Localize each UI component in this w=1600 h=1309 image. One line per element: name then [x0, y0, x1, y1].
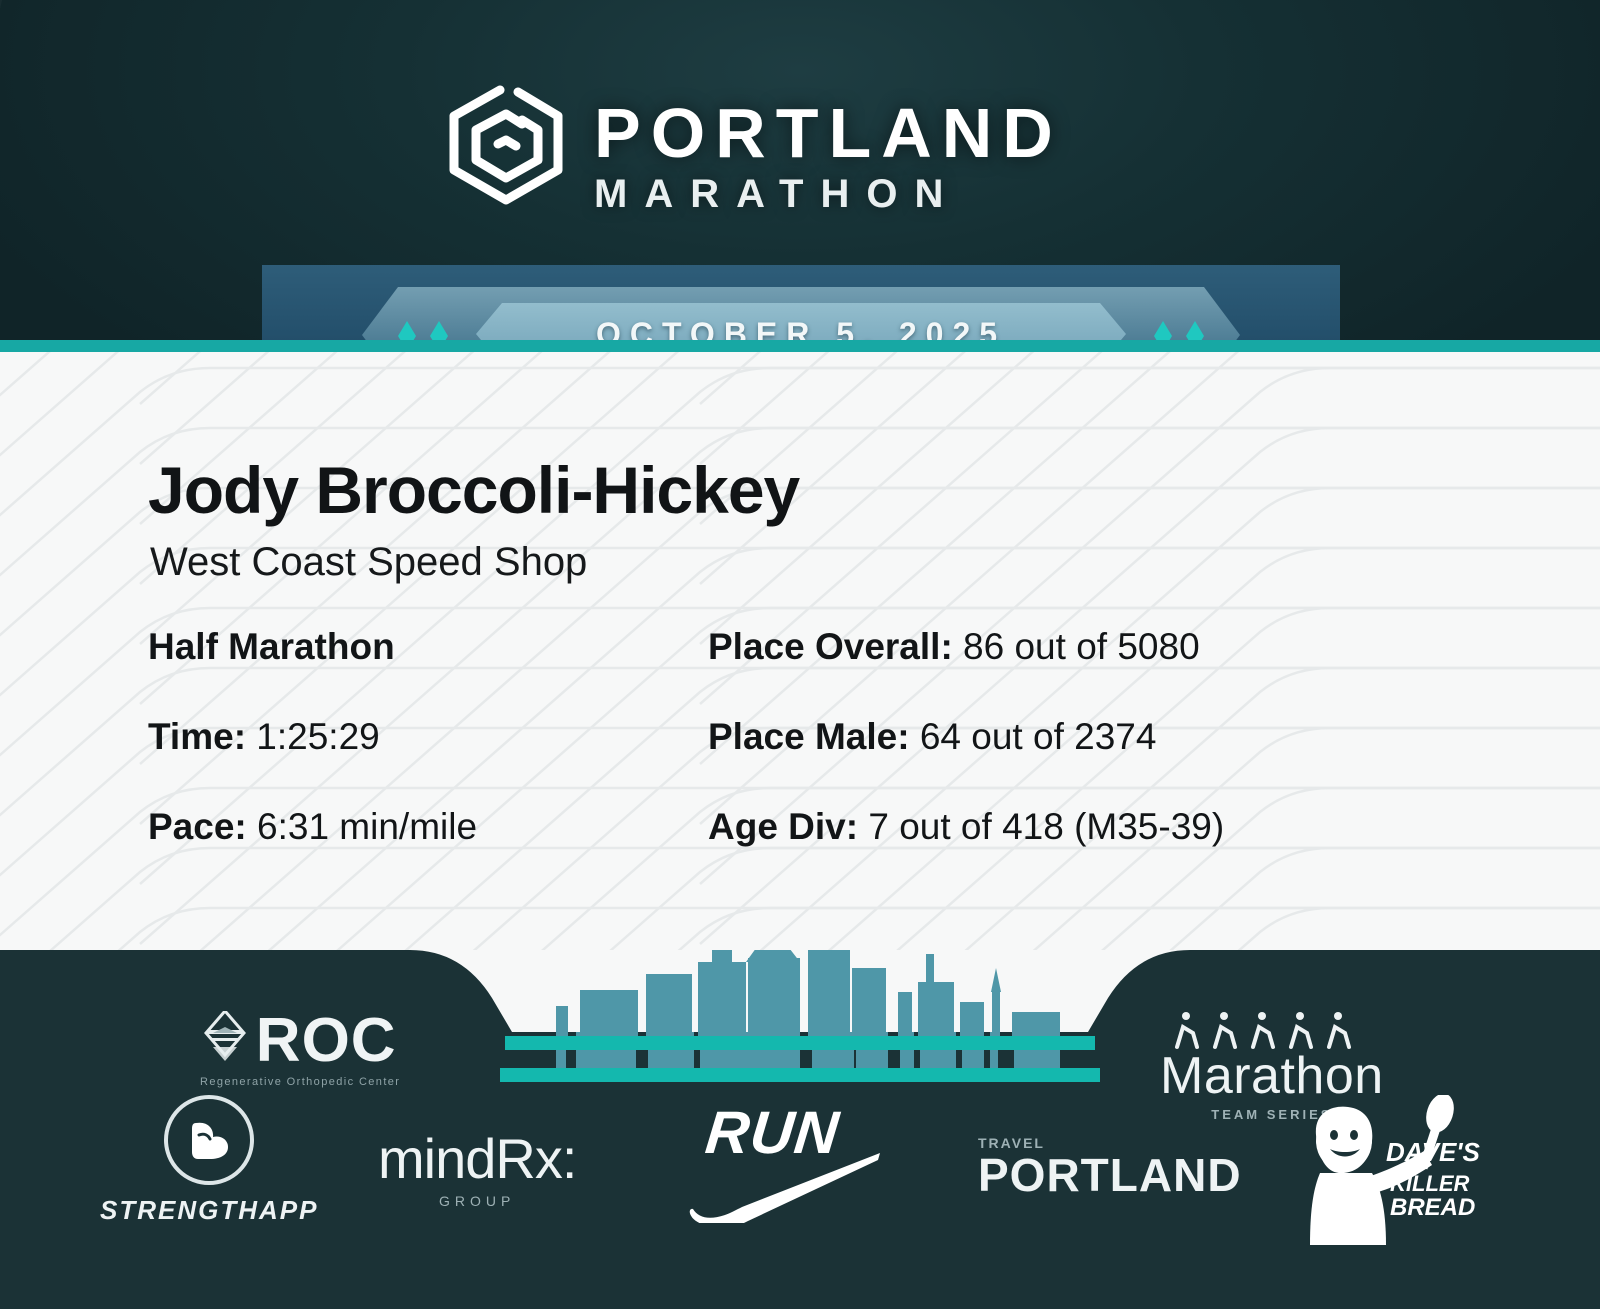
diamond-lozenge-icon: [204, 1011, 246, 1071]
sponsor-strengthapp-name: STRENGTHAPP: [100, 1195, 318, 1226]
sponsor-mindrx-name: mindRx:: [378, 1131, 576, 1187]
stat-label-place-male: Place Male:: [708, 716, 910, 757]
brand-name-secondary: MARATHON: [594, 174, 1063, 214]
stat-label-age-div: Age Div:: [708, 806, 858, 847]
stat-row-place-male: Place Male: 64 out of 2374: [708, 718, 1428, 755]
results-stats: Half Marathon Time: 1:25:29 Pace: 6:31 m…: [148, 628, 1448, 845]
running-figures-icon: [1167, 1005, 1377, 1049]
runner-team: West Coast Speed Shop: [150, 540, 587, 585]
sponsor-roc[interactable]: ROC Regenerative Orthopedic Center: [200, 1010, 400, 1088]
svg-text:KILLER: KILLER: [1390, 1171, 1470, 1196]
svg-text:DAVE'S: DAVE'S: [1386, 1137, 1480, 1167]
stat-row-age-div: Age Div: 7 out of 418 (M35-39): [708, 808, 1428, 845]
svg-text:BREAD: BREAD: [1390, 1194, 1475, 1221]
sponsor-roc-name: ROC: [256, 1010, 397, 1072]
dkb-mascot-icon: DAVE'S KILLER BREAD: [1290, 1095, 1490, 1245]
sponsor-roc-subtitle: Regenerative Orthopedic Center: [200, 1076, 400, 1088]
flexed-bicep-icon: [164, 1095, 254, 1185]
stat-row-place-overall: Place Overall: 86 out of 5080: [708, 628, 1428, 665]
sponsor-mindrx[interactable]: mindRx: GROUP: [378, 1131, 576, 1209]
stat-label-pace: Pace:: [148, 806, 247, 847]
hexagon-spiral-icon: [436, 74, 576, 234]
sponsor-travel-portland-name: PORTLAND: [978, 1151, 1242, 1199]
stats-column-right: Place Overall: 86 out of 5080 Place Male…: [708, 628, 1428, 845]
stats-column-left: Half Marathon Time: 1:25:29 Pace: 6:31 m…: [148, 628, 708, 845]
event-date-banner: OCTOBER 5, 2025: [262, 265, 1340, 352]
stat-value-pace: 6:31 min/mile: [257, 806, 477, 847]
sponsor-mindrx-subtitle: GROUP: [439, 1193, 515, 1209]
header-banner: PORTLAND MARATHON OCTOBER 5, 2025: [0, 0, 1600, 352]
portland-marathon-logo: PORTLAND MARATHON: [436, 74, 1063, 234]
race-result-certificate: PORTLAND MARATHON OCTOBER 5, 2025: [0, 0, 1600, 1309]
stat-value-place-overall: 86 out of 5080: [963, 626, 1200, 667]
stat-value-time: 1:25:29: [256, 716, 379, 757]
stat-row-pace: Pace: 6:31 min/mile: [148, 808, 708, 845]
sponsor-strengthapp[interactable]: STRENGTHAPP: [100, 1095, 318, 1226]
sponsor-nike-run[interactable]: RUN: [688, 1103, 888, 1233]
event-name: Half Marathon: [148, 626, 395, 667]
brand-name-primary: PORTLAND: [594, 100, 1063, 167]
sponsor-row-secondary: STRENGTHAPP mindRx: GROUP RUN TRAVEL POR…: [0, 1095, 1600, 1255]
nike-swoosh-icon: [688, 1151, 888, 1228]
runner-name: Jody Broccoli-Hickey: [148, 452, 799, 528]
sponsor-daves-killer-bread[interactable]: DAVE'S KILLER BREAD: [1290, 1095, 1490, 1245]
stat-label-time: Time:: [148, 716, 246, 757]
stat-value-age-div: 7 out of 418 (M35-39): [868, 806, 1224, 847]
sponsor-travel-portland[interactable]: TRAVEL PORTLAND: [978, 1135, 1242, 1199]
header-teal-edge: [0, 340, 1600, 352]
stat-label-place-overall: Place Overall:: [708, 626, 953, 667]
stat-row-time: Time: 1:25:29: [148, 718, 708, 755]
stat-value-place-male: 64 out of 2374: [920, 716, 1157, 757]
event-name-row: Half Marathon: [148, 628, 708, 665]
